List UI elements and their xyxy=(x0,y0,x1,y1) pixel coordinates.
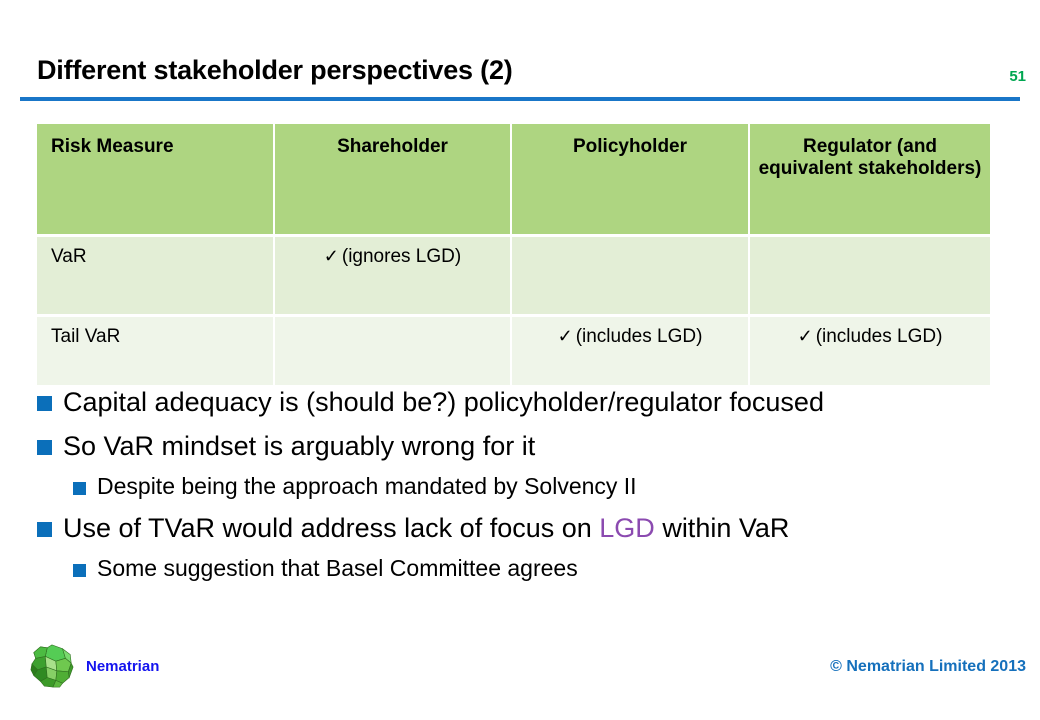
list-item: Some suggestion that Basel Committee agr… xyxy=(73,554,1017,583)
list-item-label: So VaR mindset is arguably wrong for it xyxy=(63,429,535,464)
list-item-label: Use of TVaR would address lack of focus … xyxy=(63,511,789,546)
cell-policyholder-text: (includes LGD) xyxy=(576,326,703,347)
brand-name-label: Nematrian xyxy=(86,658,159,675)
cell-shareholder xyxy=(275,314,512,385)
risk-measure-table: Risk Measure Shareholder Policyholder Re… xyxy=(37,124,990,385)
list-item: So VaR mindset is arguably wrong for it xyxy=(37,429,1017,464)
cell-policyholder: ✓(includes LGD) xyxy=(512,314,750,385)
table-header-row: Risk Measure Shareholder Policyholder Re… xyxy=(37,124,990,234)
cell-regulator: ✓(includes LGD) xyxy=(750,314,990,385)
nematrian-polyhedron-logo-icon xyxy=(28,642,76,690)
list-item-text-after: within VaR xyxy=(655,513,790,543)
footer-brand: Nematrian xyxy=(28,642,159,690)
check-icon xyxy=(391,326,394,346)
cell-risk-measure: VaR xyxy=(37,234,275,314)
check-icon xyxy=(629,246,632,266)
check-icon xyxy=(869,246,872,266)
cell-regulator-text: (includes LGD) xyxy=(816,326,943,347)
list-item-label: Capital adequacy is (should be?) policyh… xyxy=(63,385,824,420)
check-icon: ✓ xyxy=(798,326,816,346)
cell-shareholder: ✓(ignores LGD) xyxy=(275,234,512,314)
list-item-highlight-lgd: LGD xyxy=(599,513,655,543)
bullet-square-icon xyxy=(37,396,52,411)
column-header-shareholder: Shareholder xyxy=(275,124,512,234)
table-row: Tail VaR ✓(includes LGD) ✓(includes LGD) xyxy=(37,314,990,385)
check-icon: ✓ xyxy=(324,246,342,266)
page-title: Different stakeholder perspectives (2) xyxy=(37,55,513,86)
list-item-label: Some suggestion that Basel Committee agr… xyxy=(97,554,578,583)
title-divider-rule xyxy=(20,97,1020,101)
cell-regulator xyxy=(750,234,990,314)
bullet-square-icon xyxy=(73,564,86,577)
bullet-square-icon xyxy=(37,440,52,455)
bullet-list: Capital adequacy is (should be?) policyh… xyxy=(37,385,1017,593)
bullet-square-icon xyxy=(37,522,52,537)
table-row: VaR ✓(ignores LGD) xyxy=(37,234,990,314)
check-icon: ✓ xyxy=(558,326,576,346)
cell-shareholder-text: (ignores LGD) xyxy=(342,246,461,267)
column-header-risk-measure: Risk Measure xyxy=(37,124,275,234)
cell-risk-measure: Tail VaR xyxy=(37,314,275,385)
column-header-regulator: Regulator (and equivalent stakeholders) xyxy=(750,124,990,234)
slide-number: 51 xyxy=(1009,68,1026,85)
copyright-label: © Nematrian Limited 2013 xyxy=(830,658,1026,676)
cell-policyholder xyxy=(512,234,750,314)
list-item-text-before: Use of TVaR would address lack of focus … xyxy=(63,513,599,543)
column-header-policyholder: Policyholder xyxy=(512,124,750,234)
list-item: Capital adequacy is (should be?) policyh… xyxy=(37,385,1017,420)
list-item: Use of TVaR would address lack of focus … xyxy=(37,511,1017,546)
list-item: Despite being the approach mandated by S… xyxy=(73,472,1017,501)
bullet-square-icon xyxy=(73,482,86,495)
list-item-label: Despite being the approach mandated by S… xyxy=(97,472,637,501)
